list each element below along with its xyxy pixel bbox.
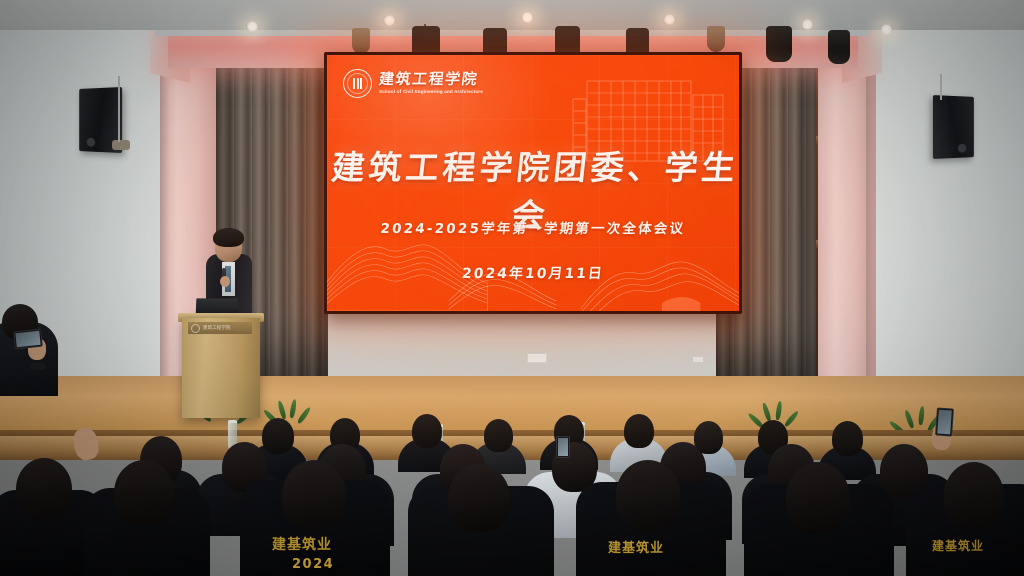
stage-floor [0, 376, 1024, 436]
phone-camera[interactable] [556, 436, 570, 458]
led-screen: 建筑工程学院 School of Civil Engineering and A… [324, 52, 742, 314]
left-speaker-conduit [118, 76, 120, 142]
screen-dateline: 2024年10月11日 [327, 263, 739, 283]
left-pilaster-shadow [160, 30, 170, 422]
audience-head [412, 414, 442, 448]
pendant-fixture [707, 26, 725, 52]
audience-head [832, 421, 863, 456]
audience-head [282, 460, 346, 530]
phone-camera[interactable] [935, 407, 954, 436]
auditorium-photo: 建筑工程学院 School of Civil Engineering and A… [0, 0, 1024, 576]
ceiling-spotlight [521, 12, 534, 23]
audience-head [262, 418, 294, 454]
ceiling-spotlight [880, 24, 893, 35]
wall-outlet-small [693, 357, 703, 362]
podium-plaque-text: 建筑工程学院 [203, 325, 231, 331]
wrist-watch [30, 363, 46, 370]
right-pilaster-shadow [866, 30, 876, 422]
audience-head [448, 464, 510, 532]
audience-head [624, 414, 654, 448]
right-speaker-conduit [940, 74, 942, 100]
right-side-wall [874, 0, 1024, 420]
jacket-slogan: 建基筑业 [272, 534, 332, 554]
jacket-slogan: 建基筑业 [932, 537, 984, 554]
speaker-hand [220, 276, 230, 287]
jacket-slogan: 建基筑业 [608, 537, 664, 556]
audience-head [16, 458, 72, 520]
ceiling-spotlight [246, 21, 259, 32]
hanging-stage-light [828, 30, 850, 64]
speaker-hair [213, 228, 244, 247]
screen-logo: 建筑工程学院 School of Civil Engineering and A… [343, 69, 483, 98]
audience-head [786, 462, 850, 534]
audience-head [616, 460, 680, 530]
ceiling-spotlight [383, 15, 396, 26]
ceiling-spotlight [801, 19, 814, 30]
school-crest-icon [343, 69, 372, 98]
ceiling-spotlight [663, 14, 676, 25]
logo-english-name: School of Civil Engineering and Architec… [379, 90, 483, 95]
ceiling-soffit [0, 0, 1024, 30]
screen-subline: 2024-2025学年第一学期第一次全体会议 [327, 217, 739, 237]
audience-head [484, 419, 513, 452]
logo-chinese-name: 建筑工程学院 [378, 72, 484, 87]
pendant-fixture [352, 28, 370, 54]
podium-crest-icon [191, 324, 200, 333]
hanging-stage-light [766, 26, 792, 62]
right-wall-speaker [933, 95, 974, 159]
wall-outlet-plate [527, 353, 547, 363]
audience-head [114, 460, 174, 526]
audience-head [944, 462, 1004, 530]
jacket-year: 2024 [292, 557, 334, 572]
podium-plaque: 建筑工程学院 [188, 322, 252, 334]
left-wall-bracket [112, 140, 130, 150]
phone-camera[interactable] [13, 329, 43, 350]
